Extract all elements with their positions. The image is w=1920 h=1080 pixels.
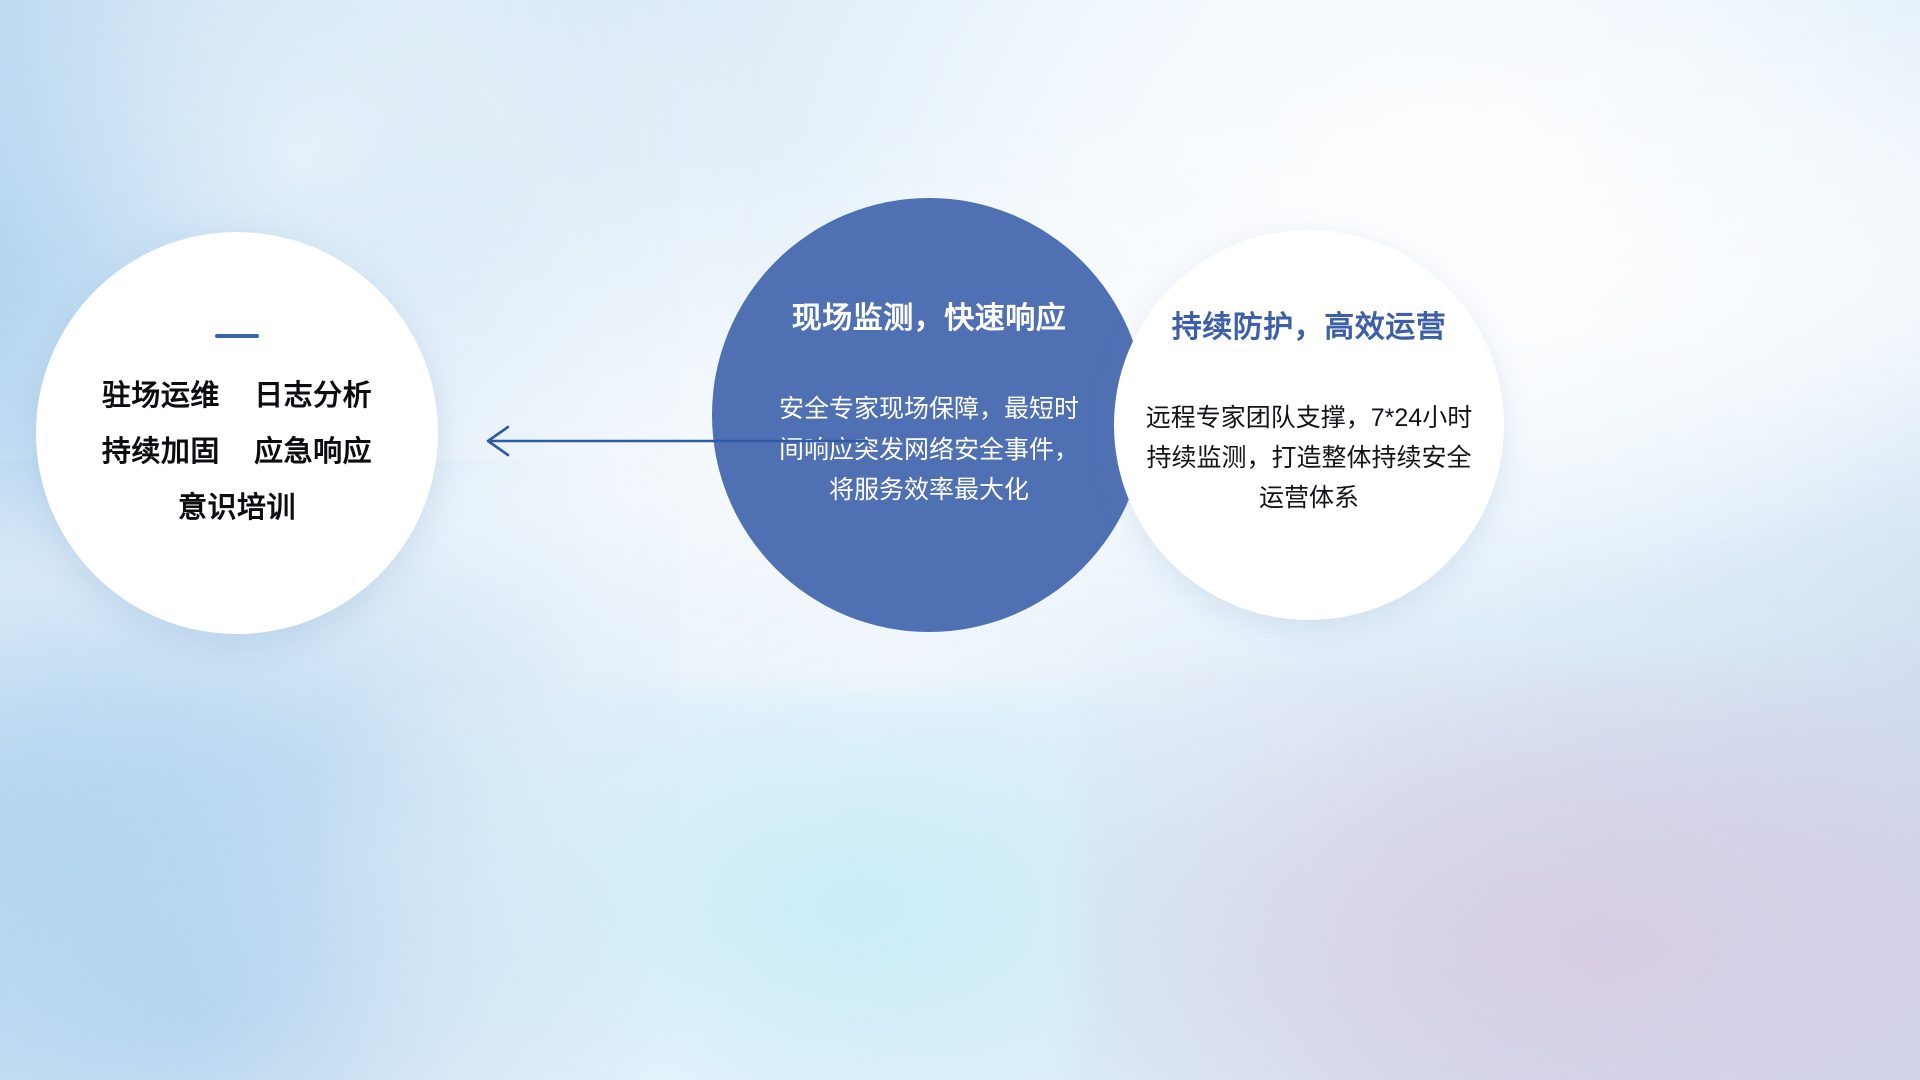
slide-canvas: 驻场运维 日志分析 持续加固 应急响应 意识培训 现场监测，快速响应 安全专家现… <box>0 0 1920 1080</box>
left-capability-circle: 驻场运维 日志分析 持续加固 应急响应 意识培训 <box>36 232 438 634</box>
left-capability-list: 驻场运维 日志分析 持续加固 应急响应 意识培训 <box>102 382 372 523</box>
list-item: 持续加固 应急响应 <box>102 438 372 467</box>
background-lavender-haze <box>1080 660 1920 1080</box>
divider-dash-icon <box>215 334 259 338</box>
right-circle-title: 持续防护，高效运营 <box>1172 302 1447 346</box>
list-item: 驻场运维 日志分析 <box>102 382 372 411</box>
left-arrow-icon <box>470 406 870 476</box>
background-bottom-left-blob <box>0 700 640 1080</box>
list-item: 意识培训 <box>102 494 372 523</box>
right-operations-circle: 持续防护，高效运营 远程专家团队支撑，7*24小时持续监测，打造整体持续安全运营… <box>1114 230 1504 620</box>
right-circle-body: 远程专家团队支撑，7*24小时持续监测，打造整体持续安全运营体系 <box>1141 398 1477 518</box>
middle-circle-title: 现场监测，快速响应 <box>792 293 1067 337</box>
